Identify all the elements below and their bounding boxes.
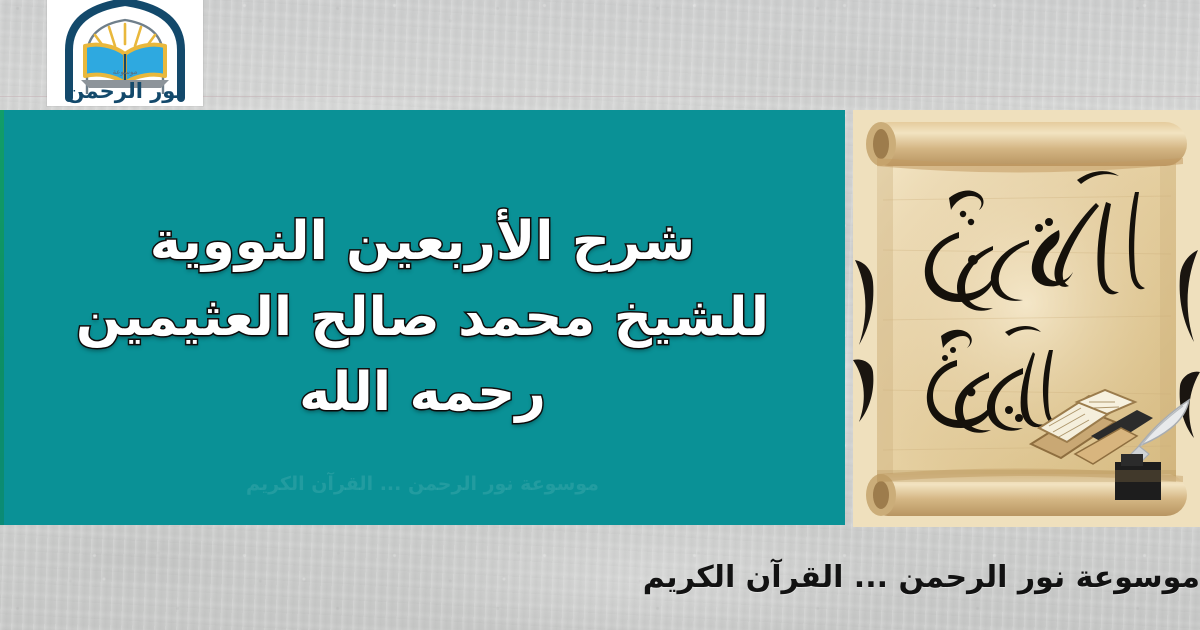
- footer-caption: موسوعة نور الرحمن ... القرآن الكريم: [0, 525, 1200, 630]
- title-panel: شرح الأربعين النووية للشيخ محمد صالح الع…: [0, 110, 845, 525]
- banner-stage: موسوعة نور الرحمن شرح الأربعين النووية ل…: [0, 0, 1200, 630]
- title-stack: شرح الأربعين النووية للشيخ محمد صالح الع…: [0, 110, 845, 525]
- parchment-scroll-illustration: [853, 110, 1200, 527]
- panel-accent-edge: [0, 110, 4, 525]
- title-line-1: شرح الأربعين النووية: [150, 211, 695, 272]
- brand-logo[interactable]: موسوعة نور الرحمن: [47, 0, 203, 106]
- logo-artwork: موسوعة نور الرحمن: [47, 0, 203, 106]
- logo-small-text: موسوعة: [113, 68, 138, 76]
- scroll-artwork: [853, 110, 1200, 527]
- title-line-2: للشيخ محمد صالح العثيمين: [76, 287, 769, 348]
- logo-brand-name: نور الرحمن: [67, 79, 184, 103]
- footer-caption-text: موسوعة نور الرحمن ... القرآن الكريم: [83, 560, 1200, 595]
- rolled-scroll-icon: [866, 122, 1187, 173]
- title-line-3: رحمه الله: [299, 362, 546, 423]
